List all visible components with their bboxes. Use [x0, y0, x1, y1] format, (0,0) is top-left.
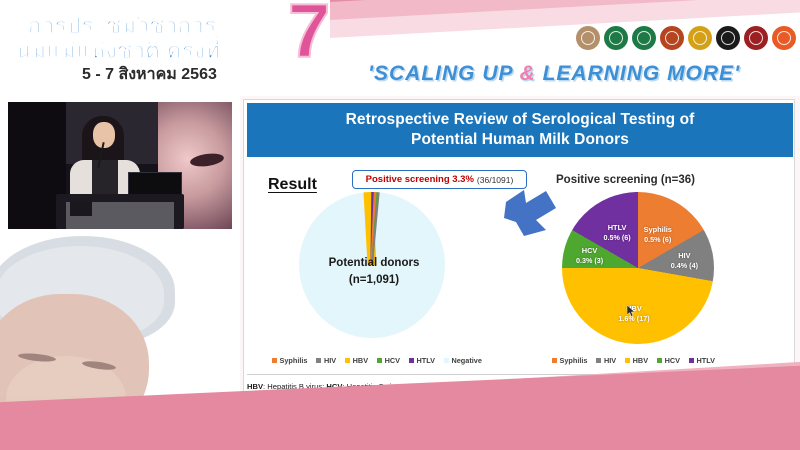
tagline-ampersand: &: [520, 62, 536, 85]
slide-title-line1: Retrospective Review of Serological Test…: [346, 110, 695, 130]
legend-swatch-icon: [272, 358, 277, 363]
logo-orange-emblem: [660, 26, 684, 50]
legend-label: HCV: [665, 356, 680, 365]
slide-viewer: การประชุมวิชาการ นมแม่แห่งชาติ ครั้งที่ …: [0, 0, 800, 450]
pointer-arrow-icon: [502, 188, 562, 240]
legend-item-hbv: HBV: [625, 356, 648, 365]
slide-title-line2: Potential Human Milk Donors: [411, 130, 629, 150]
legend-swatch-icon: [689, 358, 694, 363]
presentation-slide[interactable]: Retrospective Review of Serological Test…: [243, 99, 795, 401]
callout-sub-text: (36/1091): [477, 175, 513, 185]
legend-swatch-icon: [444, 358, 449, 363]
pie-label-name: HIV: [658, 251, 710, 261]
pie-label-value: 0.3% (3): [564, 256, 616, 266]
legend-label: HBV: [353, 356, 368, 365]
presenter-panel: [0, 96, 240, 396]
conference-edition-number: 7: [288, 0, 330, 70]
conference-tagline: 'SCALING UP & LEARNING MORE': [368, 62, 740, 86]
legend-item-negative: Negative: [444, 356, 482, 365]
legend-potential-donors: SyphilisHIVHBVHCVHTLVNegative: [272, 356, 482, 365]
tagline-part2: LEARNING MORE': [536, 62, 740, 85]
legend-label: HIV: [324, 356, 336, 365]
potential-donors-subtitle: (n=1,091): [284, 272, 464, 289]
pie-label-hiv: HIV0.4% (4): [658, 251, 710, 271]
potential-donors-label: Potential donors (n=1,091): [284, 255, 464, 288]
logo-thaihealth-sss: [772, 26, 796, 50]
legend-label: HTLV: [416, 356, 435, 365]
conference-header-banner: การประชุมวิชาการ นมแม่แห่งชาติ ครั้งที่ …: [0, 0, 800, 96]
tagline-part1: 'SCALING UP: [368, 62, 520, 85]
pie-label-value: 0.5% (6): [591, 233, 643, 243]
laptop-icon: [128, 172, 182, 196]
legend-positive-screening: SyphilisHIVHBVHCVHTLV: [552, 356, 715, 365]
legend-swatch-icon: [625, 358, 630, 363]
logo-green-shield-2: [632, 26, 656, 50]
legend-item-syphilis: Syphilis: [272, 356, 307, 365]
potential-donors-title: Potential donors: [284, 255, 464, 272]
legend-label: HCV: [385, 356, 400, 365]
mouse-cursor-icon: [627, 305, 636, 317]
legend-label: Syphilis: [280, 356, 308, 365]
legend-swatch-icon: [345, 358, 350, 363]
positive-screening-chart-heading: Positive screening (n=36): [556, 174, 695, 186]
logo-thai-royal-seal: [576, 26, 600, 50]
callout-main-text: Positive screening 3.3%: [366, 174, 474, 185]
legend-swatch-icon: [409, 358, 414, 363]
legend-label: HBV: [633, 356, 648, 365]
positive-screening-callout: Positive screening 3.3% (36/1091): [352, 170, 527, 189]
footer-band-fill: [0, 436, 800, 450]
pie-label-value: 0.4% (4): [658, 261, 710, 271]
logo-royal-crown: [688, 26, 712, 50]
logo-black-garuda: [716, 26, 740, 50]
legend-item-hbv: HBV: [345, 356, 368, 365]
pie-label-name: HTLV: [591, 223, 643, 233]
sponsor-logos-row: [576, 26, 796, 50]
legend-swatch-icon: [316, 358, 321, 363]
legend-item-hiv: HIV: [596, 356, 616, 365]
logo-green-shield-1: [604, 26, 628, 50]
legend-item-htlv: HTLV: [409, 356, 435, 365]
conference-date: 5 - 7 สิงหาคม 2563: [82, 62, 217, 87]
legend-swatch-icon: [377, 358, 382, 363]
legend-swatch-icon: [657, 358, 662, 363]
legend-item-htlv: HTLV: [689, 356, 715, 365]
pie-label-hcv: HCV0.3% (3): [564, 246, 616, 266]
pie-label-name: HCV: [564, 246, 616, 256]
legend-item-syphilis: Syphilis: [552, 356, 587, 365]
presenter-video-thumbnail[interactable]: [8, 102, 232, 229]
legend-label: HTLV: [696, 356, 715, 365]
legend-label: Negative: [451, 356, 481, 365]
legend-label: HIV: [604, 356, 616, 365]
logo-red-emblem: [744, 26, 768, 50]
legend-item-hiv: HIV: [316, 356, 336, 365]
legend-swatch-icon: [552, 358, 557, 363]
legend-swatch-icon: [596, 358, 601, 363]
slide-title: Retrospective Review of Serological Test…: [247, 103, 793, 157]
legend-item-hcv: HCV: [657, 356, 680, 365]
legend-item-hcv: HCV: [377, 356, 400, 365]
pie-label-htlv: HTLV0.5% (6): [591, 223, 643, 243]
legend-label: Syphilis: [560, 356, 588, 365]
podium-panel: [70, 202, 92, 216]
